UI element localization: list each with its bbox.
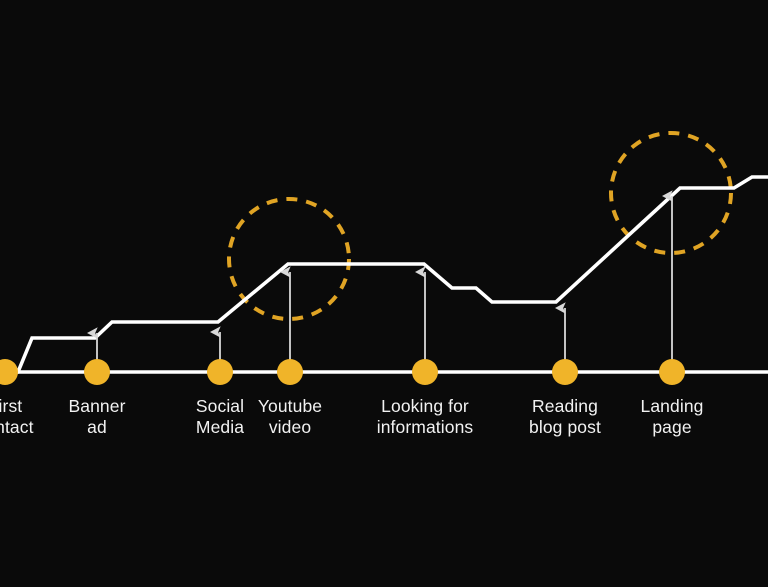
- label-looking-for-info: Looking for informations: [345, 396, 505, 438]
- engagement-line-group: [0, 177, 768, 372]
- dot-looking-for-info[interactable]: [412, 359, 438, 385]
- engagement-line: [0, 177, 768, 372]
- journey-svg-canvas: [0, 0, 768, 587]
- dot-landing-page[interactable]: [659, 359, 685, 385]
- dot-youtube-video[interactable]: [277, 359, 303, 385]
- dot-social-media[interactable]: [207, 359, 233, 385]
- dot-reading-blog-post[interactable]: [552, 359, 578, 385]
- dot-banner-ad[interactable]: [84, 359, 110, 385]
- highlight-social-youtube: [229, 199, 349, 319]
- dot-first-contact[interactable]: [0, 359, 18, 385]
- label-landing-page: Landing page: [592, 396, 752, 438]
- touchpoint-arrows-group: [97, 196, 672, 368]
- customer-journey-diagram: First contactBanner adSocial MediaYoutub…: [0, 0, 768, 587]
